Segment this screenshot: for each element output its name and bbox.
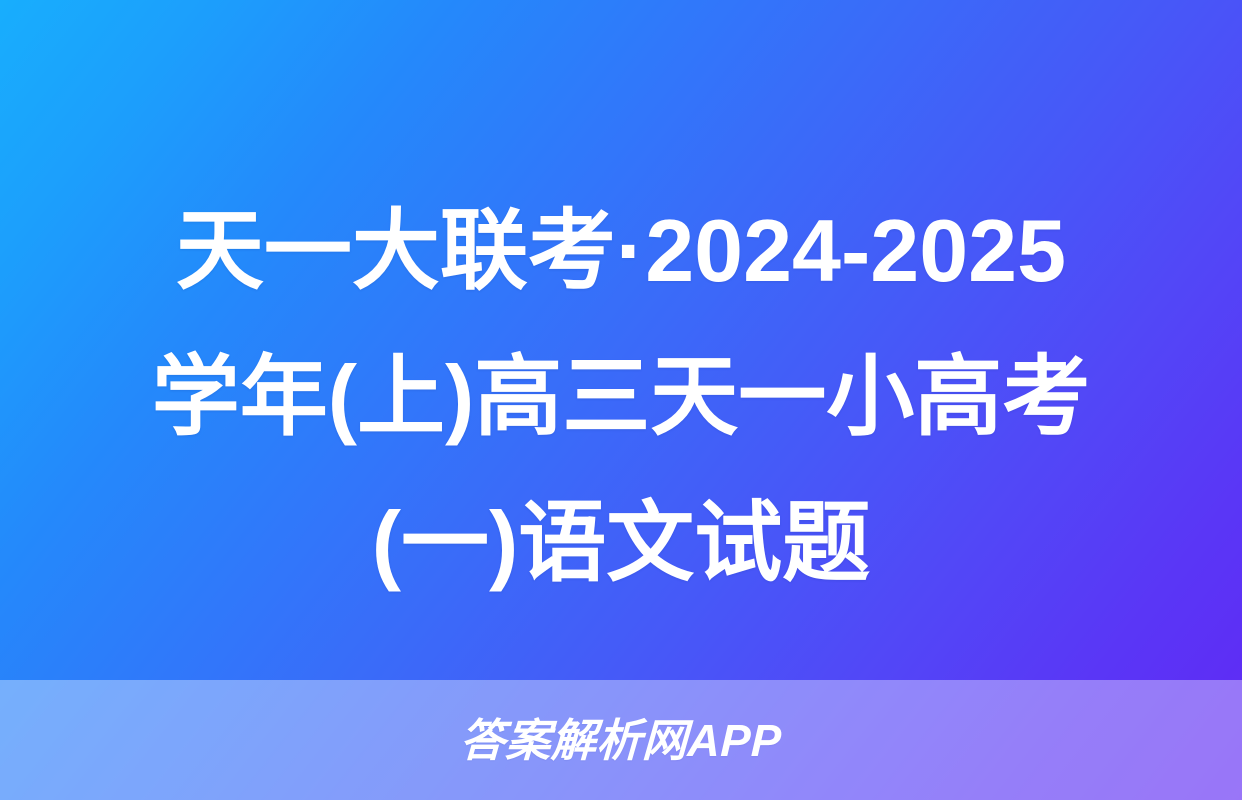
watermark-label: 答案解析网APP — [459, 718, 782, 763]
title-line-1: 天一大联考·2024-2025 — [24, 178, 1218, 324]
poster-banner: 天一大联考·2024-2025 学年(上)高三天一小高考 (一)语文试题 答案解… — [0, 0, 1242, 800]
title-line-3: (一)语文试题 — [24, 470, 1218, 616]
title-line-2: 学年(上)高三天一小高考 — [24, 324, 1218, 470]
watermark-band: 答案解析网APP — [0, 680, 1242, 800]
poster-title: 天一大联考·2024-2025 学年(上)高三天一小高考 (一)语文试题 — [0, 178, 1242, 616]
